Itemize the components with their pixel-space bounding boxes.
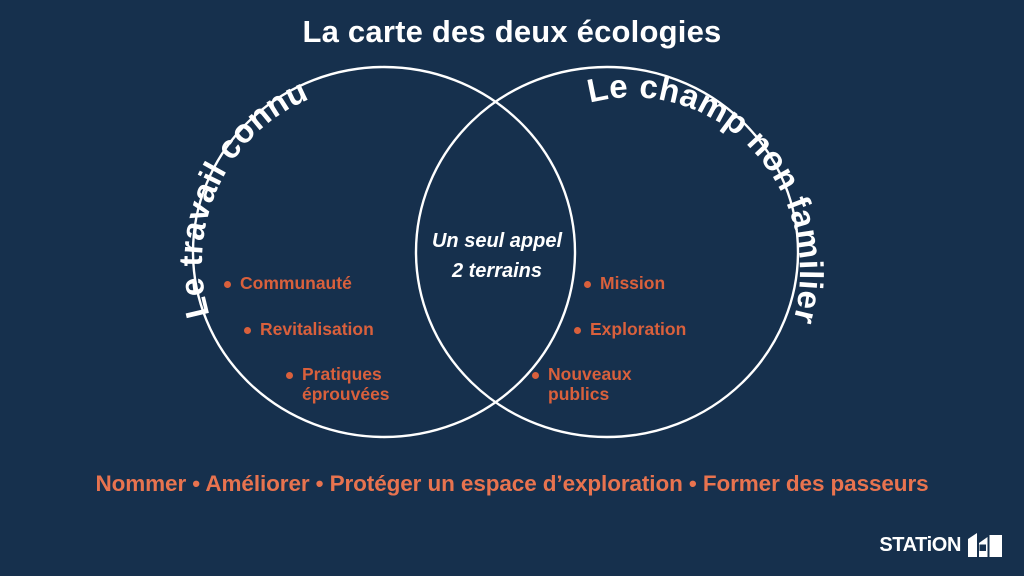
bullet-dot-icon [532,372,539,379]
bullet-dot-icon [224,281,231,288]
bullet-dot-icon [244,327,251,334]
slide-canvas: La carte des deux écologies Le travail c… [0,0,1024,576]
right-circle-bullets: Mission Exploration Nouveaux publics [532,274,762,404]
list-item: Exploration [574,320,762,340]
left-circle-bullets: Communauté Revitalisation Pratiques épro… [218,274,448,404]
bullet-dot-icon [286,372,293,379]
station-m-logo: STATiON [879,530,1002,560]
list-item: Mission [584,274,762,294]
logo-wordmark: STATiON [879,534,961,557]
venn-overlap-text: Un seul appel 2 terrains [407,226,587,286]
bullet-dot-icon [574,327,581,334]
list-item-label: Nouveaux [548,364,632,384]
footer-tagline: Nommer • Améliorer • Protéger un espace … [0,471,1024,497]
list-item-label: Revitalisation [260,319,374,339]
list-item-label: Exploration [590,319,686,339]
list-item: Pratiques éprouvées [286,365,448,404]
list-item-label-line2: éprouvées [302,385,390,405]
overlap-line-2: 2 terrains [407,256,587,286]
list-item: Nouveaux publics [532,365,762,404]
list-item: Revitalisation [244,320,448,340]
list-item-label-line2: publics [548,385,632,405]
list-item-label: Pratiques [302,364,382,384]
list-item-label: Communauté [240,273,352,293]
list-item-label: Mission [600,273,665,293]
m-mark-icon [968,533,1002,557]
overlap-line-1: Un seul appel [432,230,562,252]
